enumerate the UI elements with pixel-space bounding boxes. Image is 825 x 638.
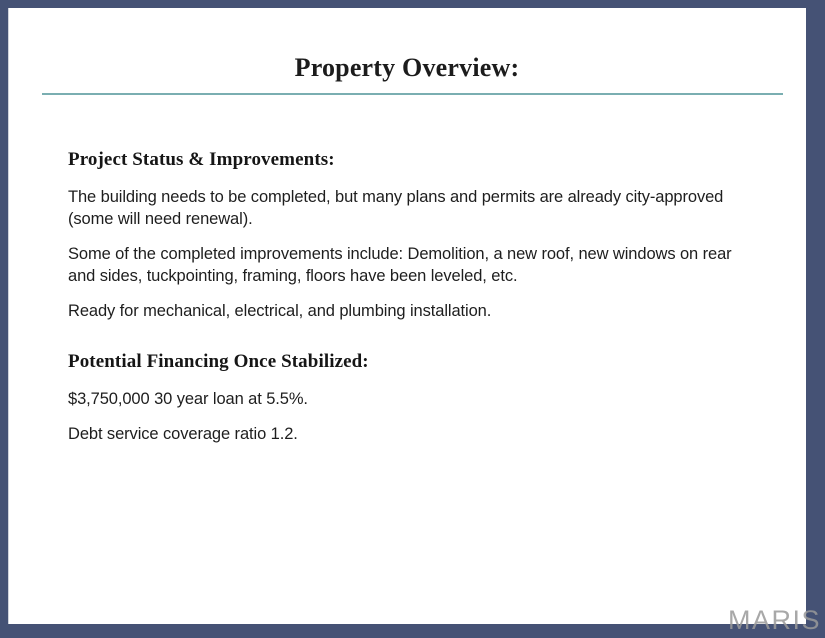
title-divider xyxy=(42,93,783,95)
paragraph-building-status: The building needs to be completed, but … xyxy=(68,186,754,230)
slide-frame: Property Overview: Project Status & Impr… xyxy=(0,0,825,638)
section-heading-potential-financing: Potential Financing Once Stabilized: xyxy=(68,350,758,374)
paragraph-completed-improvements: Some of the completed improvements inclu… xyxy=(68,243,754,287)
paragraph-debt-service-coverage: Debt service coverage ratio 1.2. xyxy=(68,423,754,445)
slide-card: Property Overview: Project Status & Impr… xyxy=(8,8,806,624)
paragraph-ready-for-mep: Ready for mechanical, electrical, and pl… xyxy=(68,300,754,322)
content-body: Project Status & Improvements: The build… xyxy=(68,148,758,445)
title-block: Property Overview: xyxy=(8,52,806,84)
page-title: Property Overview: xyxy=(295,52,520,84)
paragraph-loan-terms: $3,750,000 30 year loan at 5.5%. xyxy=(68,388,754,410)
section-heading-project-status: Project Status & Improvements: xyxy=(68,148,758,172)
